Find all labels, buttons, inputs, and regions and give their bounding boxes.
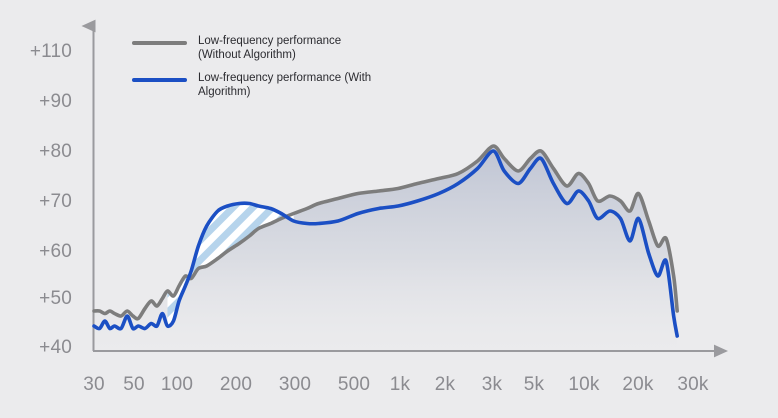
legend-label-with-algorithm: Low-frequency performance (With Algorith… (198, 71, 383, 99)
x-tick-10k: 10k (568, 374, 599, 396)
legend-item-with-algorithm: Low-frequency performance (With Algorith… (132, 71, 383, 99)
y-tick-110: +110 (30, 41, 72, 63)
x-tick-500: 500 (338, 374, 370, 396)
y-tick-50: +50 (39, 288, 72, 310)
x-tick-30: 30 (83, 374, 105, 396)
x-tick-100: 100 (161, 374, 193, 396)
legend-label-without-algorithm: Low-frequency performance (Without Algor… (198, 34, 383, 62)
legend-item-without-algorithm: Low-frequency performance (Without Algor… (132, 34, 383, 62)
x-tick-30k: 30k (677, 374, 708, 396)
frequency-response-chart: +110 +90 +80 +70 +60 +50 +40 30 50 100 2… (0, 0, 778, 418)
x-tick-3k: 3k (482, 374, 502, 396)
x-tick-5k: 5k (524, 374, 544, 396)
area-under-curve (94, 146, 677, 351)
y-tick-90: +90 (39, 91, 72, 113)
chart-plot-area (0, 0, 778, 418)
y-tick-70: +70 (39, 191, 72, 213)
y-tick-80: +80 (39, 141, 72, 163)
x-tick-200: 200 (220, 374, 252, 396)
x-tick-20k: 20k (622, 374, 653, 396)
chart-legend: Low-frequency performance (Without Algor… (132, 34, 383, 108)
y-tick-60: +60 (39, 241, 72, 263)
x-tick-2k: 2k (435, 374, 455, 396)
legend-swatch-gray (132, 41, 187, 45)
y-tick-40: +40 (39, 337, 72, 359)
legend-swatch-blue (132, 78, 187, 82)
x-tick-50: 50 (123, 374, 145, 396)
x-tick-1k: 1k (390, 374, 410, 396)
x-tick-300: 300 (279, 374, 311, 396)
